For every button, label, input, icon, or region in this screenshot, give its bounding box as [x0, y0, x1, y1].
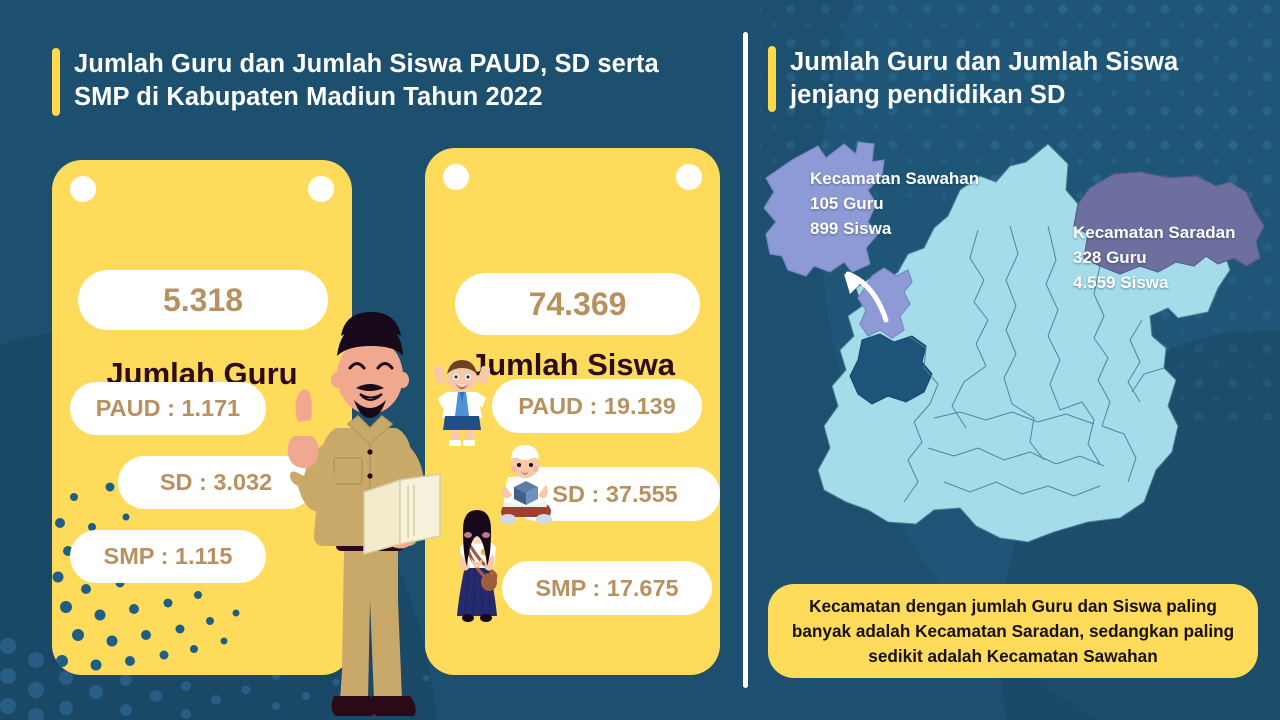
map-label-saradan-guru: 328 Guru [1073, 245, 1236, 270]
right-panel-title: Jumlah Guru dan Jumlah Siswa jenjang pen… [768, 46, 1238, 112]
card-punch-hole-left [70, 176, 96, 202]
map-label-sawahan-guru: 105 Guru [810, 191, 979, 216]
right-title-text: Jumlah Guru dan Jumlah Siswa jenjang pen… [790, 46, 1238, 112]
map-label-sawahan: Kecamatan Sawahan 105 Guru 899 Siswa [810, 166, 979, 241]
right-panel: Jumlah Guru dan Jumlah Siswa jenjang pen… [748, 0, 1280, 720]
card-punch-hole-right [676, 164, 702, 190]
map-region-dark [850, 334, 932, 404]
guru-paud-value: PAUD : 1.171 [70, 382, 266, 435]
guru-smp-value: SMP : 1.115 [70, 530, 266, 583]
title-accent-bar [52, 48, 60, 116]
siswa-total-value: 74.369 [455, 273, 700, 335]
card-punch-hole-right [308, 176, 334, 202]
siswa-smp-value: SMP : 17.675 [502, 561, 712, 615]
map-label-saradan-siswa: 4.559 Siswa [1073, 270, 1236, 295]
map-label-saradan: Kecamatan Saradan 328 Guru 4.559 Siswa [1073, 220, 1236, 295]
card-punch-hole-left [443, 164, 469, 190]
student-boy-illustration [431, 358, 493, 448]
siswa-paud-value: PAUD : 19.139 [492, 379, 702, 433]
map-kabupaten-madiun: Kecamatan Sawahan 105 Guru 899 Siswa Kec… [748, 130, 1280, 580]
callout-box: Kecamatan dengan jumlah Guru dan Siswa p… [768, 584, 1258, 678]
student-girl-illustration [447, 508, 507, 624]
title-accent-bar [768, 46, 776, 112]
map-label-sawahan-siswa: 899 Siswa [810, 216, 979, 241]
map-label-saradan-name: Kecamatan Saradan [1073, 220, 1236, 245]
left-panel: Jumlah Guru dan Jumlah Siswa PAUD, SD se… [0, 0, 745, 720]
callout-text: Kecamatan dengan jumlah Guru dan Siswa p… [784, 594, 1242, 669]
map-region-sawahan-actual[interactable] [858, 268, 912, 338]
left-title-text: Jumlah Guru dan Jumlah Siswa PAUD, SD se… [74, 48, 712, 114]
left-panel-title: Jumlah Guru dan Jumlah Siswa PAUD, SD se… [52, 48, 712, 116]
map-label-sawahan-name: Kecamatan Sawahan [810, 166, 979, 191]
